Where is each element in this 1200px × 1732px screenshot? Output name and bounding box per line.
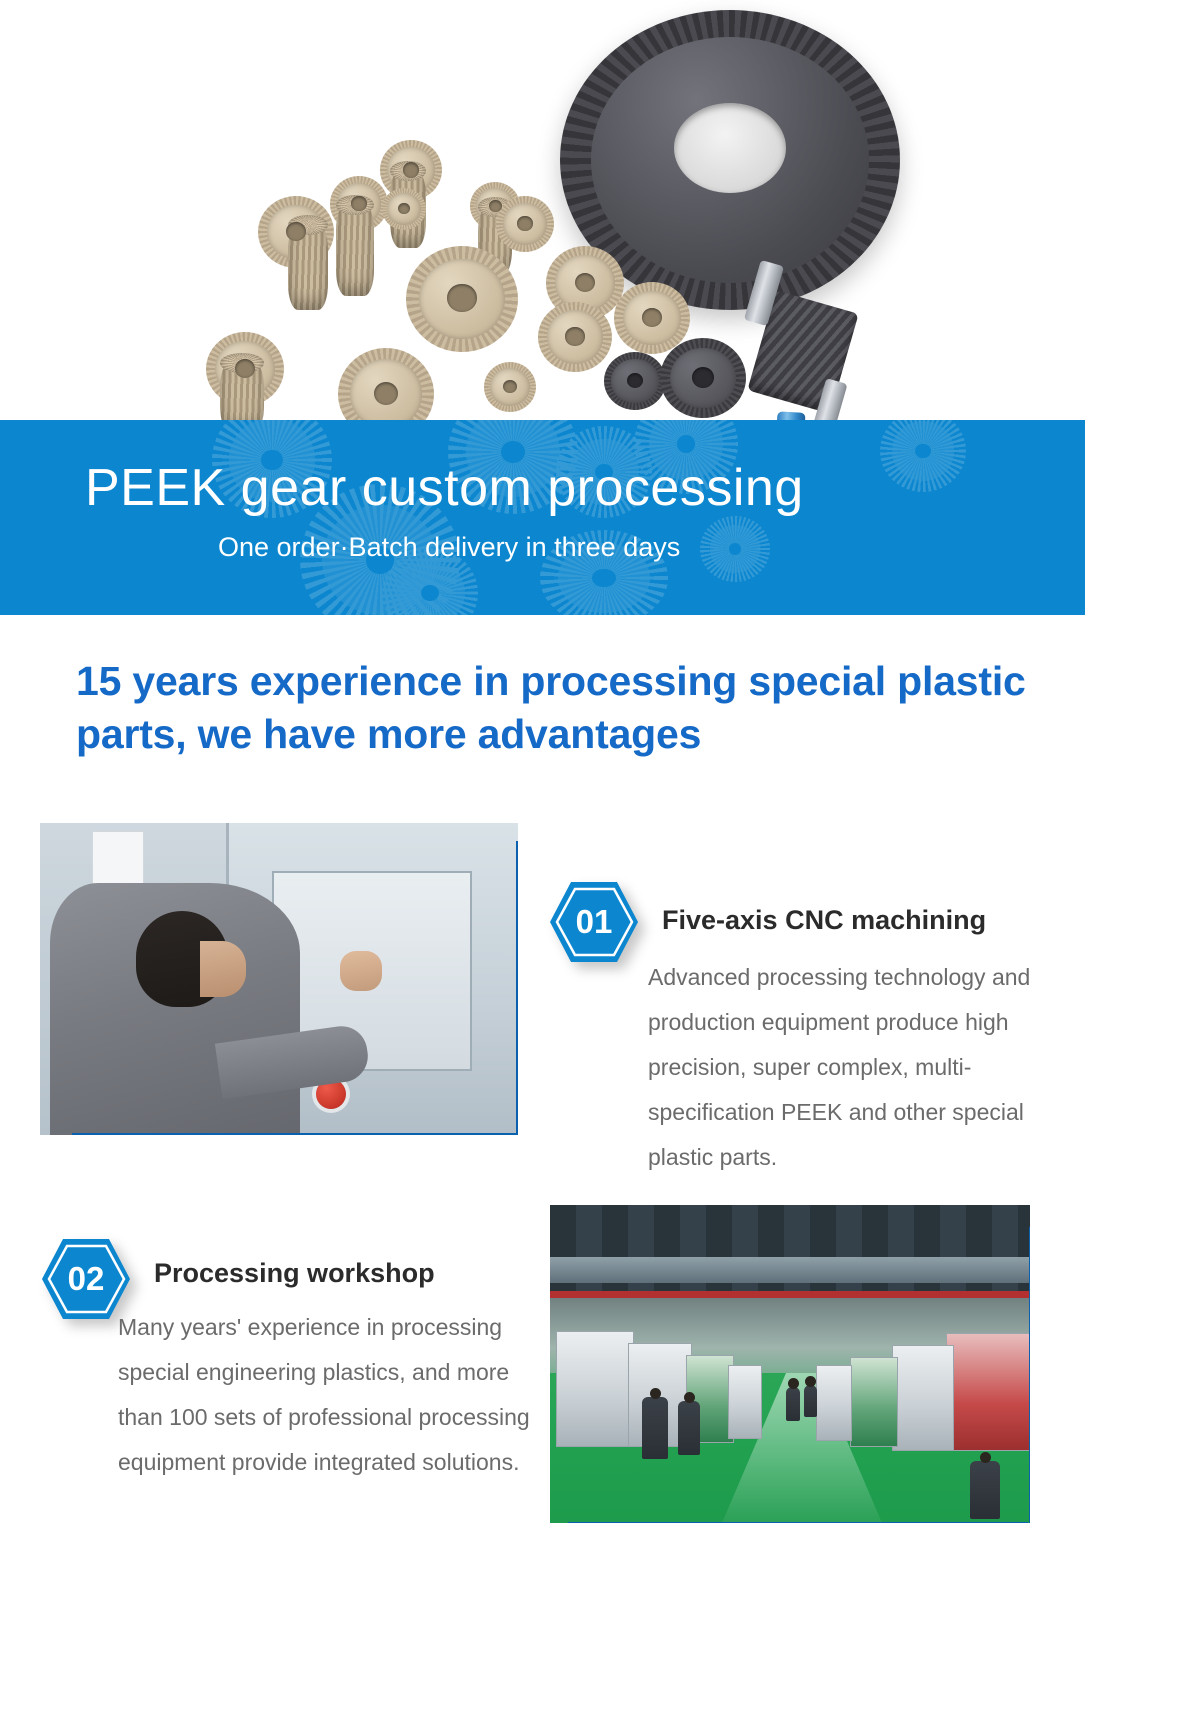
peek-gear-8-icon [538, 302, 612, 372]
workshop-red-pipe [550, 1291, 1030, 1298]
operator-hand [340, 951, 382, 991]
photo-accent-bar-bottom [568, 1522, 1028, 1523]
product-detail-page: PEEK gear custom processing One order·Ba… [0, 0, 1200, 1732]
banner-title: PEEK gear custom processing [85, 458, 804, 518]
peek-large-spoked-gear-icon [406, 246, 518, 352]
watermark-gear-9-icon [880, 420, 966, 492]
section-headline: 15 years experience in processing specia… [76, 655, 1086, 761]
feature-02-body: Many years' experience in processing spe… [118, 1305, 530, 1485]
workshop-machine-r2 [892, 1345, 954, 1451]
peek-helical-gear-2-icon [336, 204, 374, 296]
photo-accent-bar-right [516, 841, 518, 1135]
feature-01-number: 01 [548, 880, 640, 964]
workshop-worker-3 [786, 1387, 800, 1421]
dark-gear-medium-icon [660, 338, 746, 418]
feature-01-title: Five-axis CNC machining [662, 905, 986, 936]
workshop-duct [550, 1257, 1030, 1283]
peek-gear-6-icon [496, 196, 554, 252]
workshop-machine-r3 [850, 1357, 898, 1447]
feature-01-number-badge: 01 [548, 880, 640, 964]
workshop-worker-4 [804, 1385, 817, 1417]
workshop-worker-1 [642, 1397, 668, 1459]
feature-01-photo [40, 823, 518, 1135]
workshop-worker-5 [970, 1461, 1000, 1519]
workshop-machine-r4 [816, 1365, 852, 1441]
feature-02-title: Processing workshop [154, 1258, 435, 1289]
workshop-machine-l4 [728, 1365, 762, 1439]
operator-face [200, 941, 246, 997]
watermark-gear-8-icon [700, 516, 770, 582]
photo-accent-bar-bottom [72, 1133, 518, 1135]
peek-gear-12-icon [484, 362, 536, 412]
gear-collection-image [0, 0, 1200, 470]
operator-body [50, 883, 300, 1135]
peek-gear-9-icon [614, 282, 690, 354]
peek-gear-4-icon [382, 188, 426, 230]
dark-gear-small-icon [604, 352, 666, 410]
hero-product-photo [0, 0, 1200, 470]
banner-subtitle: One order·Batch delivery in three days [218, 532, 680, 563]
workshop-machine-r1 [946, 1333, 1030, 1451]
feature-01-body: Advanced processing technology and produ… [648, 955, 1088, 1180]
workshop-worker-2 [678, 1401, 700, 1455]
photo-accent-bar-right [1029, 1227, 1030, 1523]
workshop-machine-l1 [556, 1331, 634, 1447]
hero-banner: PEEK gear custom processing One order·Ba… [0, 420, 1085, 615]
feature-02-photo [550, 1205, 1030, 1523]
